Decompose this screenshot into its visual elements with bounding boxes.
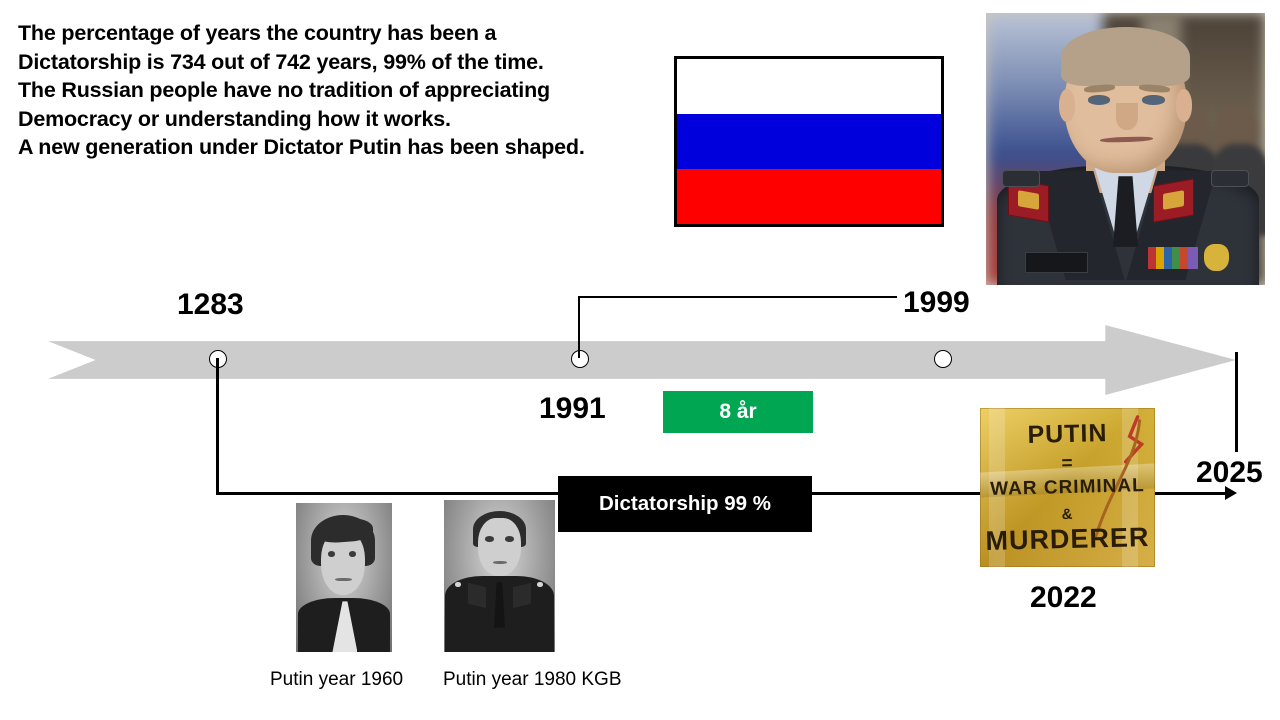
- protest-poster: PUTIN = WAR CRIMINAL & MURDERER: [980, 408, 1155, 567]
- year-label-1991: 1991: [539, 392, 606, 426]
- photo-1980-eye-left: [485, 536, 494, 541]
- duration-badge-8-ar: 8 år: [663, 391, 813, 433]
- headline-line-3: A new generation under Dictator Putin ha…: [18, 133, 618, 162]
- timeline-marker-1999[interactable]: [934, 350, 952, 368]
- year-label-1999: 1999: [903, 286, 970, 320]
- photo-1980-collar-tab-left: [468, 583, 486, 609]
- portrait-collar-tab-right: [1153, 178, 1194, 223]
- headline-line-1: The percentage of years the country has …: [18, 19, 618, 76]
- year-label-2022: 2022: [1030, 581, 1097, 615]
- dictatorship-line-vertical: [216, 358, 219, 494]
- leader-line-2025-vertical: [1235, 352, 1238, 452]
- dictatorship-callout-badge: Dictatorship 99 %: [558, 476, 812, 532]
- poster-line-1: PUTIN: [980, 420, 1155, 449]
- photo-1980-shoulder-pip-left: [455, 582, 461, 587]
- poster-line-3: WAR CRIMINAL: [980, 476, 1155, 499]
- flag-white-stripe: [677, 59, 941, 114]
- year-label-2025: 2025: [1196, 456, 1263, 490]
- photo-1980-collar-tab-right: [513, 583, 531, 609]
- medal-ribbons-icon: [1148, 247, 1198, 269]
- portrait-nameplate: [1025, 252, 1088, 273]
- photo-1980-mouth: [493, 561, 507, 564]
- russian-flag: [674, 56, 944, 227]
- portrait-eye-right: [1142, 96, 1164, 105]
- photo-1980-eye-right: [505, 536, 514, 541]
- headline-text: The percentage of years the country has …: [18, 19, 618, 162]
- putin-1960-photo: [296, 503, 392, 652]
- photo-1960-eye-right: [349, 551, 357, 557]
- photo-caption-1960: Putin year 1960: [270, 669, 403, 691]
- eagle-crest-icon: [1204, 244, 1229, 271]
- portrait-epaulette-right: [1212, 171, 1248, 186]
- flag-blue-stripe: [677, 114, 941, 169]
- photo-caption-1980: Putin year 1980 KGB: [443, 669, 622, 691]
- gold-braid-right-icon: [1163, 190, 1184, 209]
- leader-line-1999-horizontal: [578, 296, 897, 298]
- putin-1980-kgb-photo: [444, 500, 555, 652]
- headline-line-2: The Russian people have no tradition of …: [18, 76, 618, 133]
- year-label-1283: 1283: [177, 288, 244, 322]
- putin-uniform-photo: [986, 13, 1265, 285]
- photo-1960-eye-left: [328, 551, 336, 557]
- photo-1980-face: [478, 518, 520, 576]
- flag-red-stripe: [677, 169, 941, 224]
- gold-braid-left-icon: [1018, 190, 1039, 209]
- photo-1960-mouth: [335, 578, 351, 582]
- portrait-hair: [1061, 27, 1189, 87]
- portrait-ear-left: [1059, 89, 1076, 122]
- portrait-nose: [1116, 103, 1138, 130]
- leader-line-1999-vertical: [578, 296, 580, 358]
- portrait-epaulette-left: [1003, 171, 1039, 186]
- photo-1980-shoulder-pip-right: [537, 582, 543, 587]
- slide-canvas: The percentage of years the country has …: [0, 0, 1280, 720]
- poster-line-5: MURDERER: [980, 524, 1155, 555]
